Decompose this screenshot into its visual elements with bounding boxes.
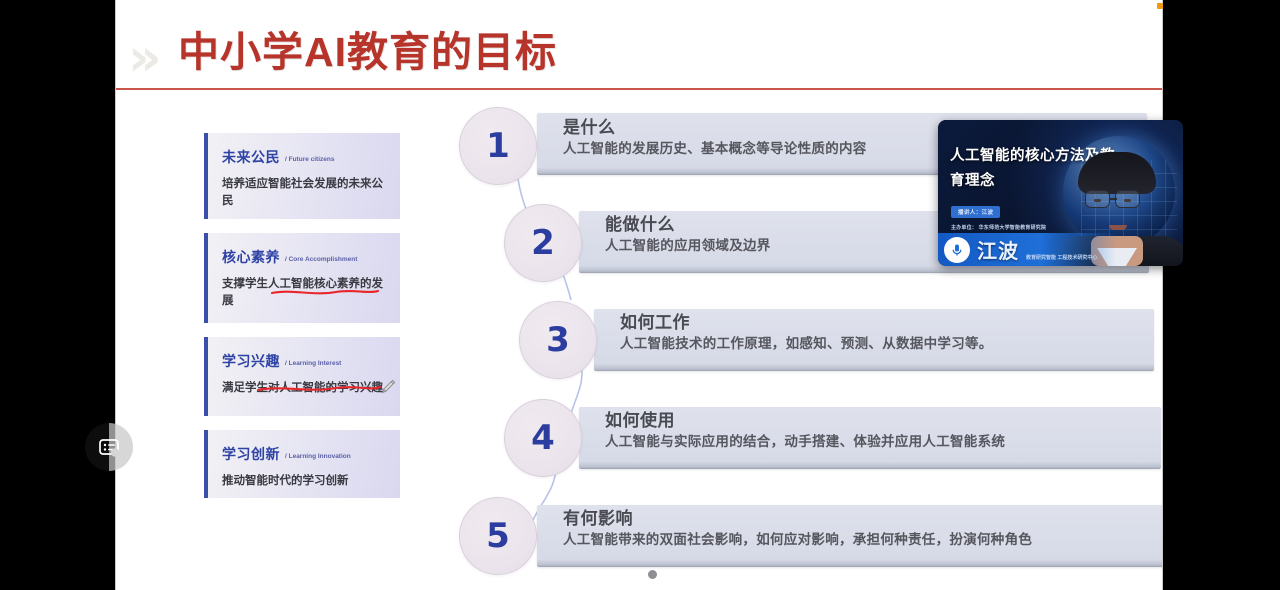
- concept-card-body: 支撑学生人工智能核心素养的发展: [222, 276, 386, 310]
- step-list: 是什么 人工智能的发展历史、基本概念等导论性质的内容 1 能做什么 人工智能的应…: [459, 0, 1163, 590]
- concept-card-body: 满足学生对人工智能的学习兴趣: [222, 380, 386, 397]
- step-number-badge: 3: [519, 301, 597, 379]
- step-text-group: 如何使用 人工智能与实际应用的结合，动手搭建、体验并应用人工智能系统: [605, 410, 1005, 452]
- concept-card[interactable]: 核心素养 / Core Accomplishment 支撑学生人工智能核心素养的…: [204, 233, 400, 323]
- video-speaker-badge: 播讲人：江波: [951, 206, 1000, 218]
- step-number: 5: [486, 516, 510, 556]
- step-number: 4: [531, 418, 555, 458]
- step-description: 人工智能带来的双面社会影响，如何应对影响，承担何种责任，扮演何种角色: [563, 530, 1032, 550]
- step-number-badge: 4: [504, 399, 582, 477]
- concept-card[interactable]: 学习兴趣 / Learning Interest 满足学生对人工智能的学习兴趣: [204, 337, 400, 416]
- pen-cursor-icon: [380, 379, 396, 395]
- presenter-mouth: [1109, 225, 1127, 230]
- slide-page-indicator-dot[interactable]: [648, 570, 657, 579]
- concept-card-body: 培养适应智能社会发展的未来公民: [222, 176, 386, 210]
- microphone-icon: [944, 237, 970, 263]
- presenter-video-overlay[interactable]: 人工智能的核心方法及教育理念 播讲人：江波 主办单位： 华东师范大学智能教育研究…: [938, 120, 1183, 266]
- step-number-badge: 1: [459, 107, 537, 185]
- video-org-subtext: 教育研究智能 工程技术研究中心: [1026, 254, 1098, 262]
- step-title: 有何影响: [563, 508, 1032, 530]
- step-text-group: 有何影响 人工智能带来的双面社会影响，如何应对影响，承担何种责任，扮演何种角色: [563, 508, 1032, 550]
- concept-card-subtitle: / Learning Interest: [285, 360, 341, 367]
- step-text-group: 能做什么 人工智能的应用领域及边界: [605, 214, 771, 256]
- presenter-glasses-right: [1115, 190, 1140, 208]
- presentation-slide: » 中小学AI教育的目标 未来公民 / Future citizens 培养适应…: [115, 0, 1163, 590]
- concept-card-header: 学习创新 / Learning Innovation: [222, 444, 386, 464]
- screen-root: » 中小学AI教育的目标 未来公民 / Future citizens 培养适应…: [0, 0, 1280, 590]
- concept-card-body: 推动智能时代的学习创新: [222, 473, 386, 490]
- concept-card-subtitle: / Core Accomplishment: [285, 256, 357, 263]
- concept-card-subtitle: / Future citizens: [285, 156, 334, 163]
- step-text-group: 是什么 人工智能的发展历史、基本概念等导论性质的内容: [563, 117, 867, 159]
- step-title: 能做什么: [605, 214, 771, 236]
- step-number: 3: [546, 320, 570, 360]
- concept-card-title: 学习创新: [222, 444, 280, 464]
- step-title: 是什么: [563, 117, 867, 139]
- step-description: 人工智能的应用领域及边界: [605, 236, 771, 256]
- concept-card-title: 核心素养: [222, 247, 280, 267]
- presenter-glasses-bridge: [1110, 198, 1117, 200]
- step-description: 人工智能的发展历史、基本概念等导论性质的内容: [563, 139, 867, 159]
- notes-panel-button[interactable]: [85, 423, 133, 471]
- step-title: 如何使用: [605, 410, 1005, 432]
- step-number: 2: [531, 223, 555, 263]
- step-number-badge: 2: [504, 204, 582, 282]
- step-text-group: 如何工作 人工智能技术的工作原理，如感知、预测、从数据中学习等。: [620, 312, 993, 354]
- step-number: 1: [486, 126, 510, 166]
- step-title: 如何工作: [620, 312, 993, 334]
- step-description: 人工智能与实际应用的结合，动手搭建、体验并应用人工智能系统: [605, 432, 1005, 452]
- double-chevron-right-icon: »: [128, 32, 156, 84]
- concept-card-subtitle: / Learning Innovation: [285, 453, 351, 460]
- step-number-badge: 5: [459, 497, 537, 575]
- concept-card-title: 学习兴趣: [222, 351, 280, 371]
- left-black-strip: [0, 0, 115, 590]
- notification-dot-icon[interactable]: [1157, 3, 1163, 9]
- concept-card[interactable]: 学习创新 / Learning Innovation 推动智能时代的学习创新: [204, 430, 400, 498]
- notes-panel-icon: [97, 435, 121, 459]
- concept-card-header: 学习兴趣 / Learning Interest: [222, 351, 386, 371]
- step-description: 人工智能技术的工作原理，如感知、预测、从数据中学习等。: [620, 334, 993, 354]
- presenter-name: 江波: [977, 235, 1019, 264]
- presenter-hair: [1078, 152, 1156, 194]
- concept-card[interactable]: 未来公民 / Future citizens 培养适应智能社会发展的未来公民: [204, 133, 400, 219]
- presenter-glasses-left: [1085, 190, 1110, 208]
- concept-card-title: 未来公民: [222, 147, 280, 167]
- concept-card-header: 核心素养 / Core Accomplishment: [222, 247, 386, 267]
- concept-card-list: 未来公民 / Future citizens 培养适应智能社会发展的未来公民 核…: [204, 133, 400, 512]
- concept-card-header: 未来公民 / Future citizens: [222, 147, 386, 167]
